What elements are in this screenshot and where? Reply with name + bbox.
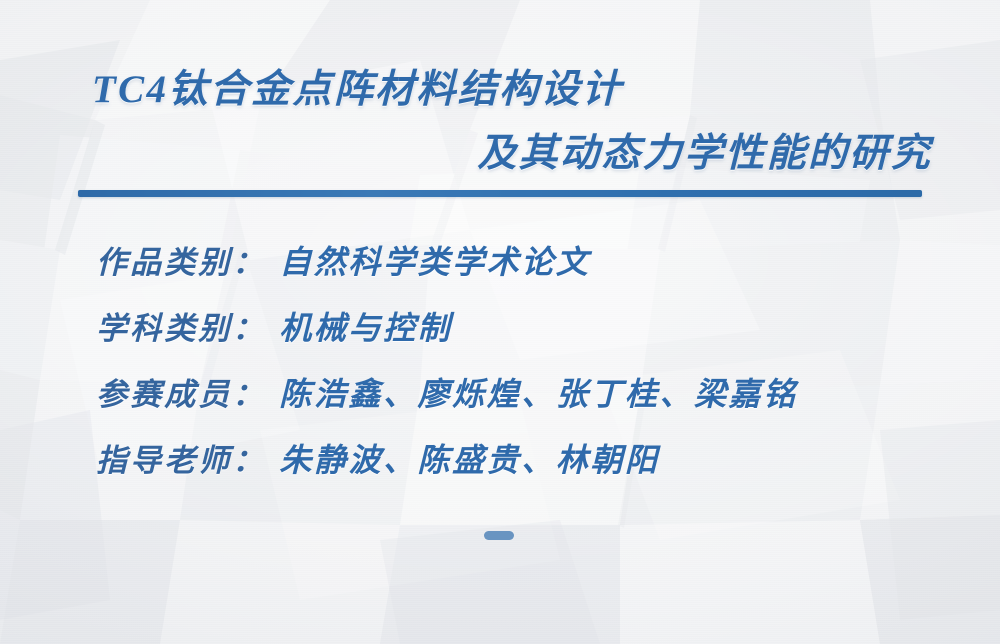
info-label: 作品类别	[96, 241, 232, 285]
info-value: 陈浩鑫、廖烁煌、张丁桂、梁嘉铭	[279, 372, 797, 416]
title-divider-rule	[78, 190, 922, 197]
info-value: 朱静波、陈盛贵、林朝阳	[279, 438, 659, 482]
info-label: 学科类别	[96, 307, 232, 351]
title-slide: TC4钛合金点阵材料结构设计 及其动态力学性能的研究 作品类别 ： 自然科学类学…	[0, 0, 1000, 644]
info-row-subject-category: 学科类别 ： 机械与控制	[96, 306, 956, 372]
info-value: 机械与控制	[279, 306, 452, 350]
info-colon: ：	[232, 241, 279, 285]
info-list: 作品类别 ： 自然科学类学术论文 学科类别 ： 机械与控制 参赛成员 ： 陈浩鑫…	[96, 240, 956, 504]
title-line-2: 及其动态力学性能的研究	[70, 126, 940, 182]
info-colon: ：	[232, 307, 279, 351]
info-label: 参赛成员	[96, 373, 232, 417]
info-colon: ：	[232, 373, 279, 417]
info-row-team-members: 参赛成员 ： 陈浩鑫、廖烁煌、张丁桂、梁嘉铭	[96, 372, 956, 438]
info-row-advisors: 指导老师 ： 朱静波、陈盛贵、林朝阳	[96, 438, 956, 504]
info-label: 指导老师	[96, 439, 232, 483]
dash-marker-icon	[484, 531, 514, 540]
title-line-1: TC4钛合金点阵材料结构设计	[70, 62, 940, 118]
slide-content: TC4钛合金点阵材料结构设计 及其动态力学性能的研究 作品类别 ： 自然科学类学…	[0, 0, 1000, 644]
slide-title: TC4钛合金点阵材料结构设计 及其动态力学性能的研究	[70, 62, 940, 182]
info-value: 自然科学类学术论文	[279, 240, 590, 284]
info-colon: ：	[232, 439, 279, 483]
info-row-work-category: 作品类别 ： 自然科学类学术论文	[96, 240, 956, 306]
